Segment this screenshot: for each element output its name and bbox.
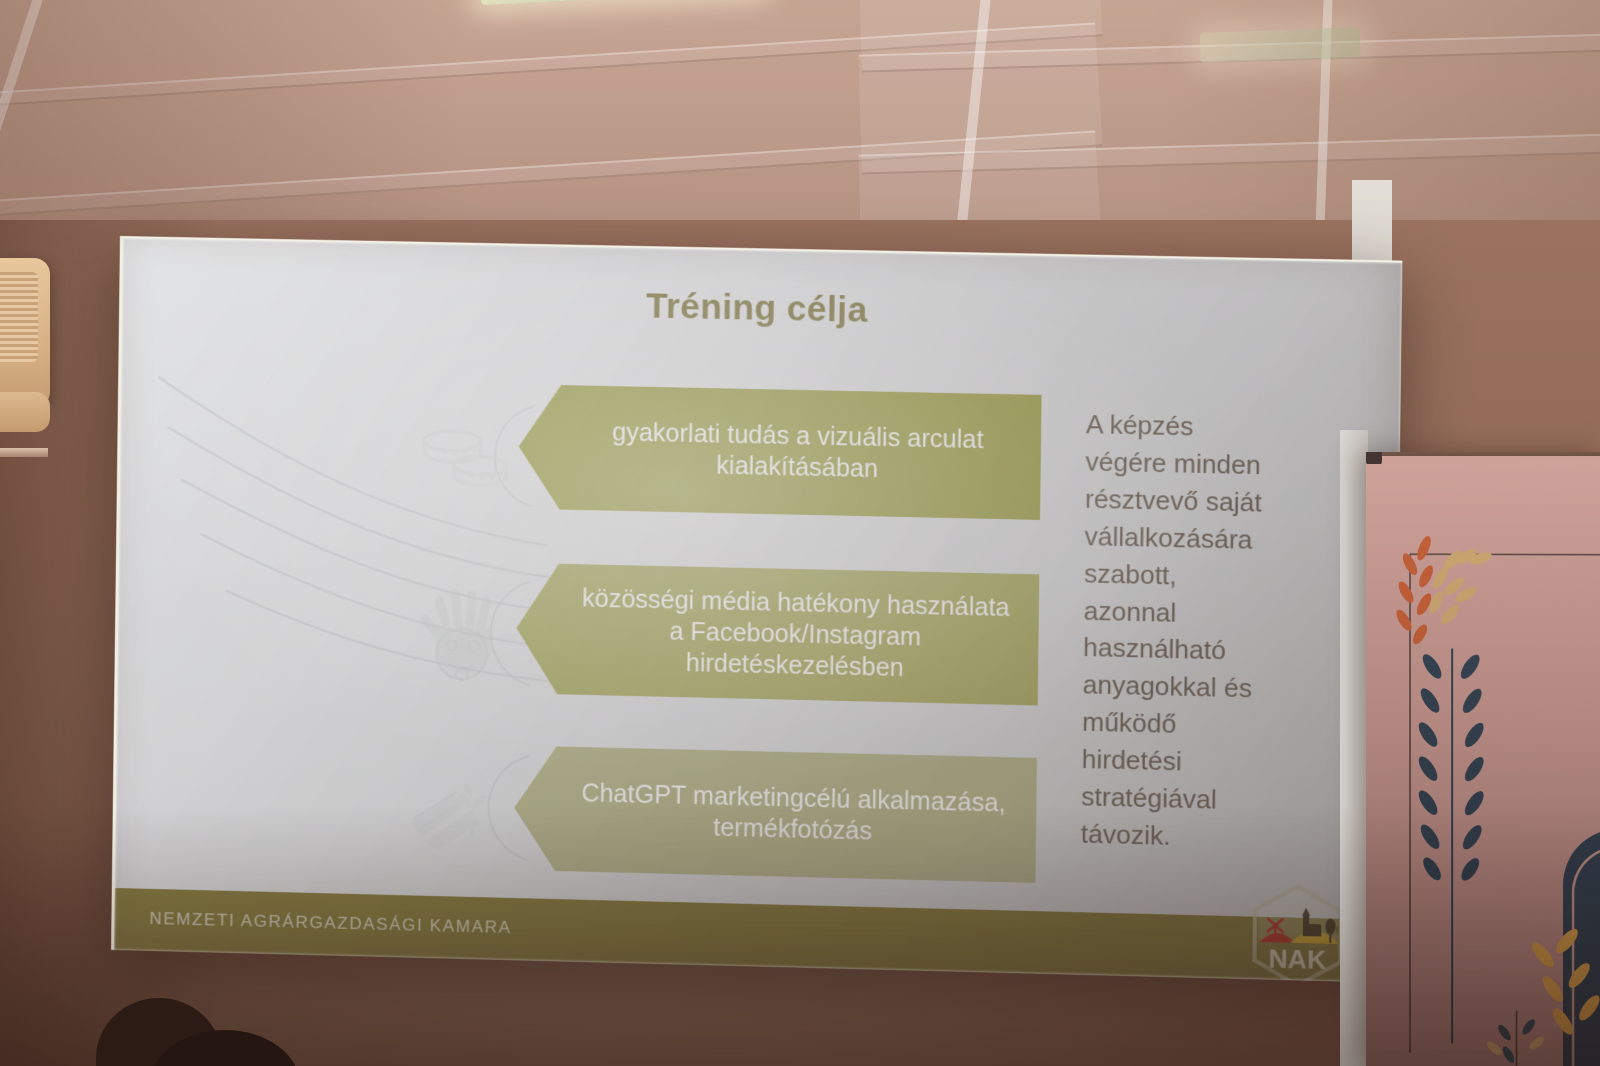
- wall-bottom-shadow: [0, 806, 1600, 1066]
- objective-banner-2-label: közösségi média hatékony használata a Fa…: [516, 581, 1039, 686]
- air-conditioner-grill: [0, 272, 38, 362]
- air-conditioner-base: [0, 392, 50, 432]
- cheese-rings-icon: [418, 418, 519, 490]
- objective-banner-1-label: gyakorlati tudás a vizuális arculat kial…: [518, 415, 1041, 488]
- wall-trim: [0, 448, 48, 457]
- objective-banner-2[interactable]: közösségi média hatékony használata a Fa…: [516, 563, 1040, 706]
- objective-banner-1[interactable]: gyakorlati tudás a vizuális arculat kial…: [518, 384, 1042, 520]
- room-scene: Tréning célja: [0, 0, 1600, 1066]
- hand-face-icon: [415, 587, 517, 686]
- outcome-paragraph: A képzés végére minden résztvevő saját v…: [1081, 406, 1307, 858]
